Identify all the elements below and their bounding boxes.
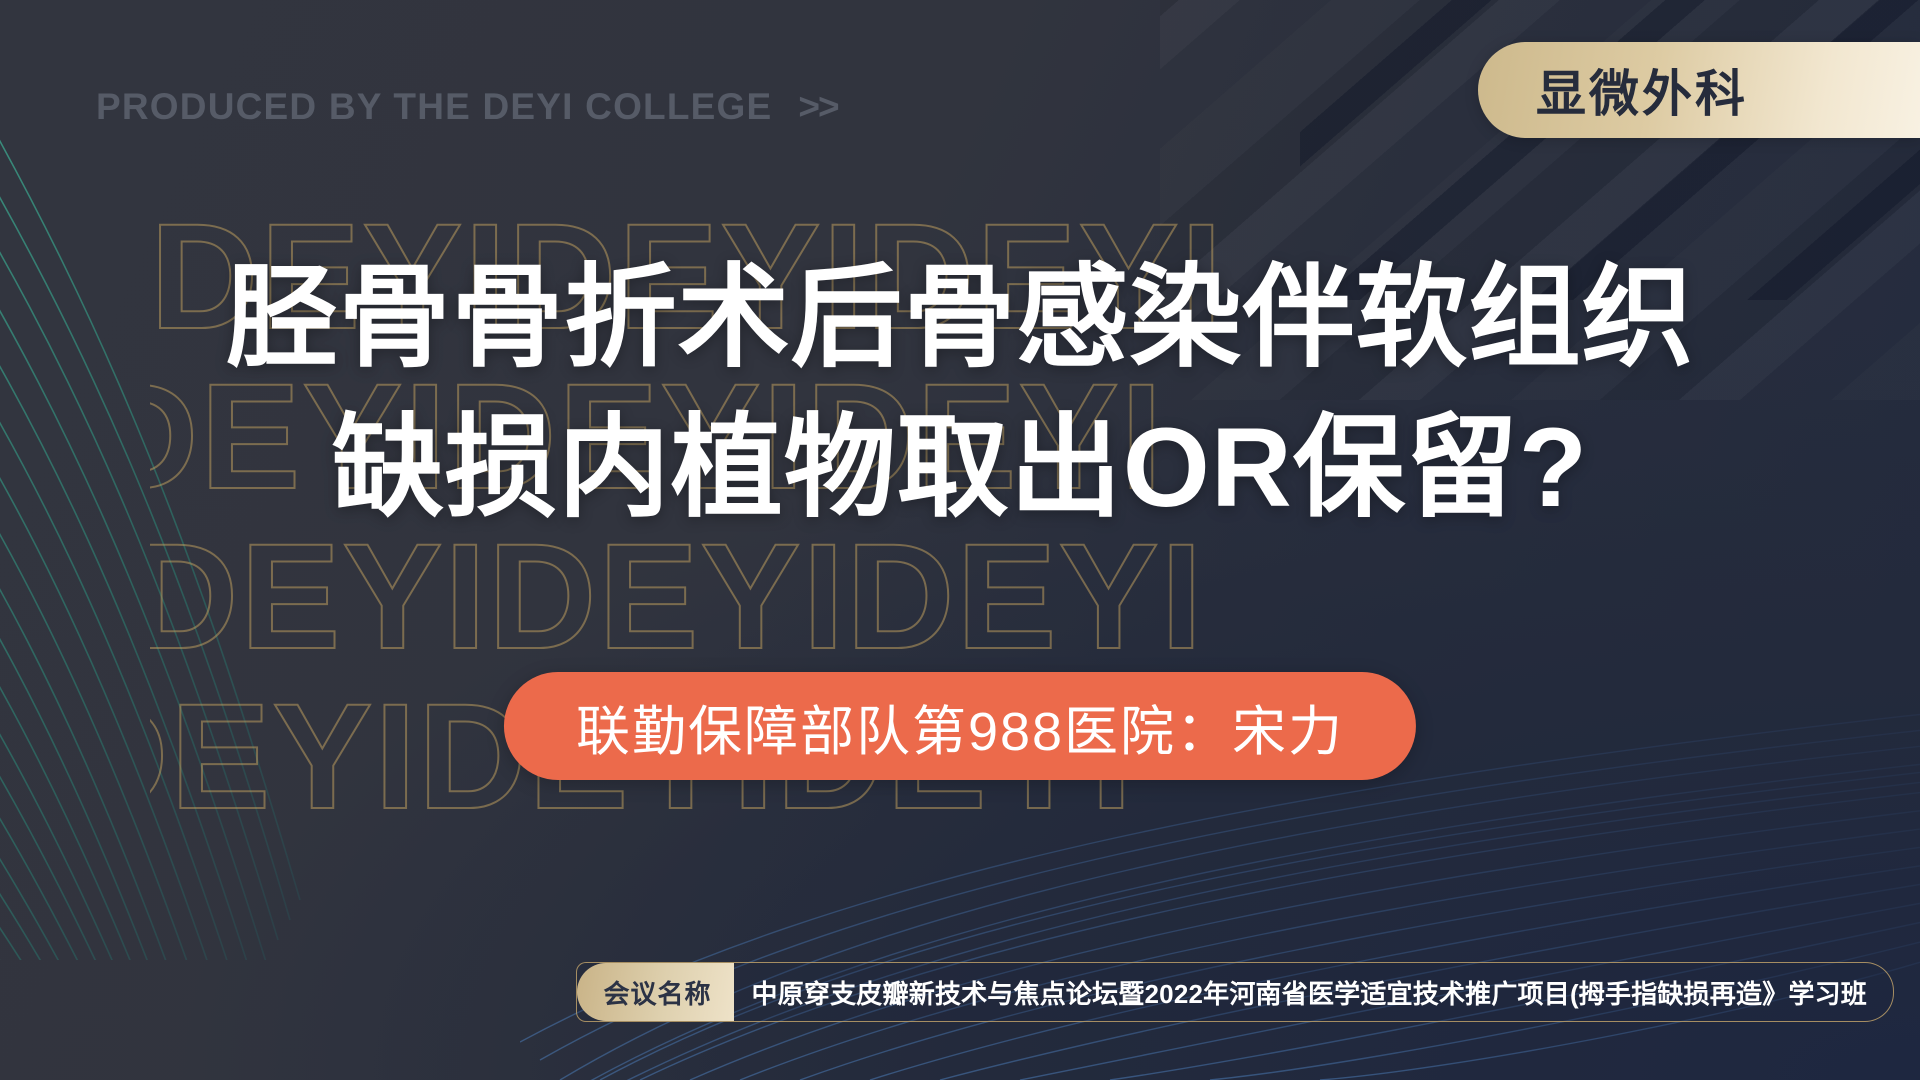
- conference-title: 中原穿支皮瓣新技术与焦点论坛暨2022年河南省医学适宜技术推广项目(拇手指缺损再…: [734, 963, 1894, 1021]
- producer-eyebrow: PRODUCED BY THE DEYI COLLEGE >>: [96, 86, 838, 128]
- title-line-2: 缺损内植物取出OR保留?: [0, 393, 1920, 543]
- page-title: 胫骨骨折术后骨感染伴软组织 缺损内植物取出OR保留?: [0, 243, 1920, 543]
- speaker-badge: 联勤保障部队第988医院：宋力: [504, 672, 1416, 780]
- double-chevron-right-icon: >>: [798, 86, 837, 128]
- topic-badge-label: 显微外科: [1536, 54, 1748, 126]
- topic-badge: 显微外科: [1478, 42, 1920, 138]
- title-line-1: 胫骨骨折术后骨感染伴软组织: [0, 243, 1920, 393]
- producer-eyebrow-text: PRODUCED BY THE DEYI COLLEGE: [96, 86, 772, 128]
- speaker-badge-label: 联勤保障部队第988医院：宋力: [576, 687, 1344, 766]
- conference-title-label: 中原穿支皮瓣新技术与焦点论坛暨2022年河南省医学适宜技术推广项目(拇手指缺损再…: [752, 974, 1868, 1011]
- conference-bar: 会议名称 中原穿支皮瓣新技术与焦点论坛暨2022年河南省医学适宜技术推广项目(拇…: [576, 962, 1894, 1022]
- conference-tag: 会议名称: [577, 963, 733, 1021]
- conference-tag-label: 会议名称: [603, 974, 711, 1011]
- slide-canvas: DEYIDEYIDEYI DEYIDEYIDEYI DEYIDEYIDEYI D…: [0, 0, 1920, 1080]
